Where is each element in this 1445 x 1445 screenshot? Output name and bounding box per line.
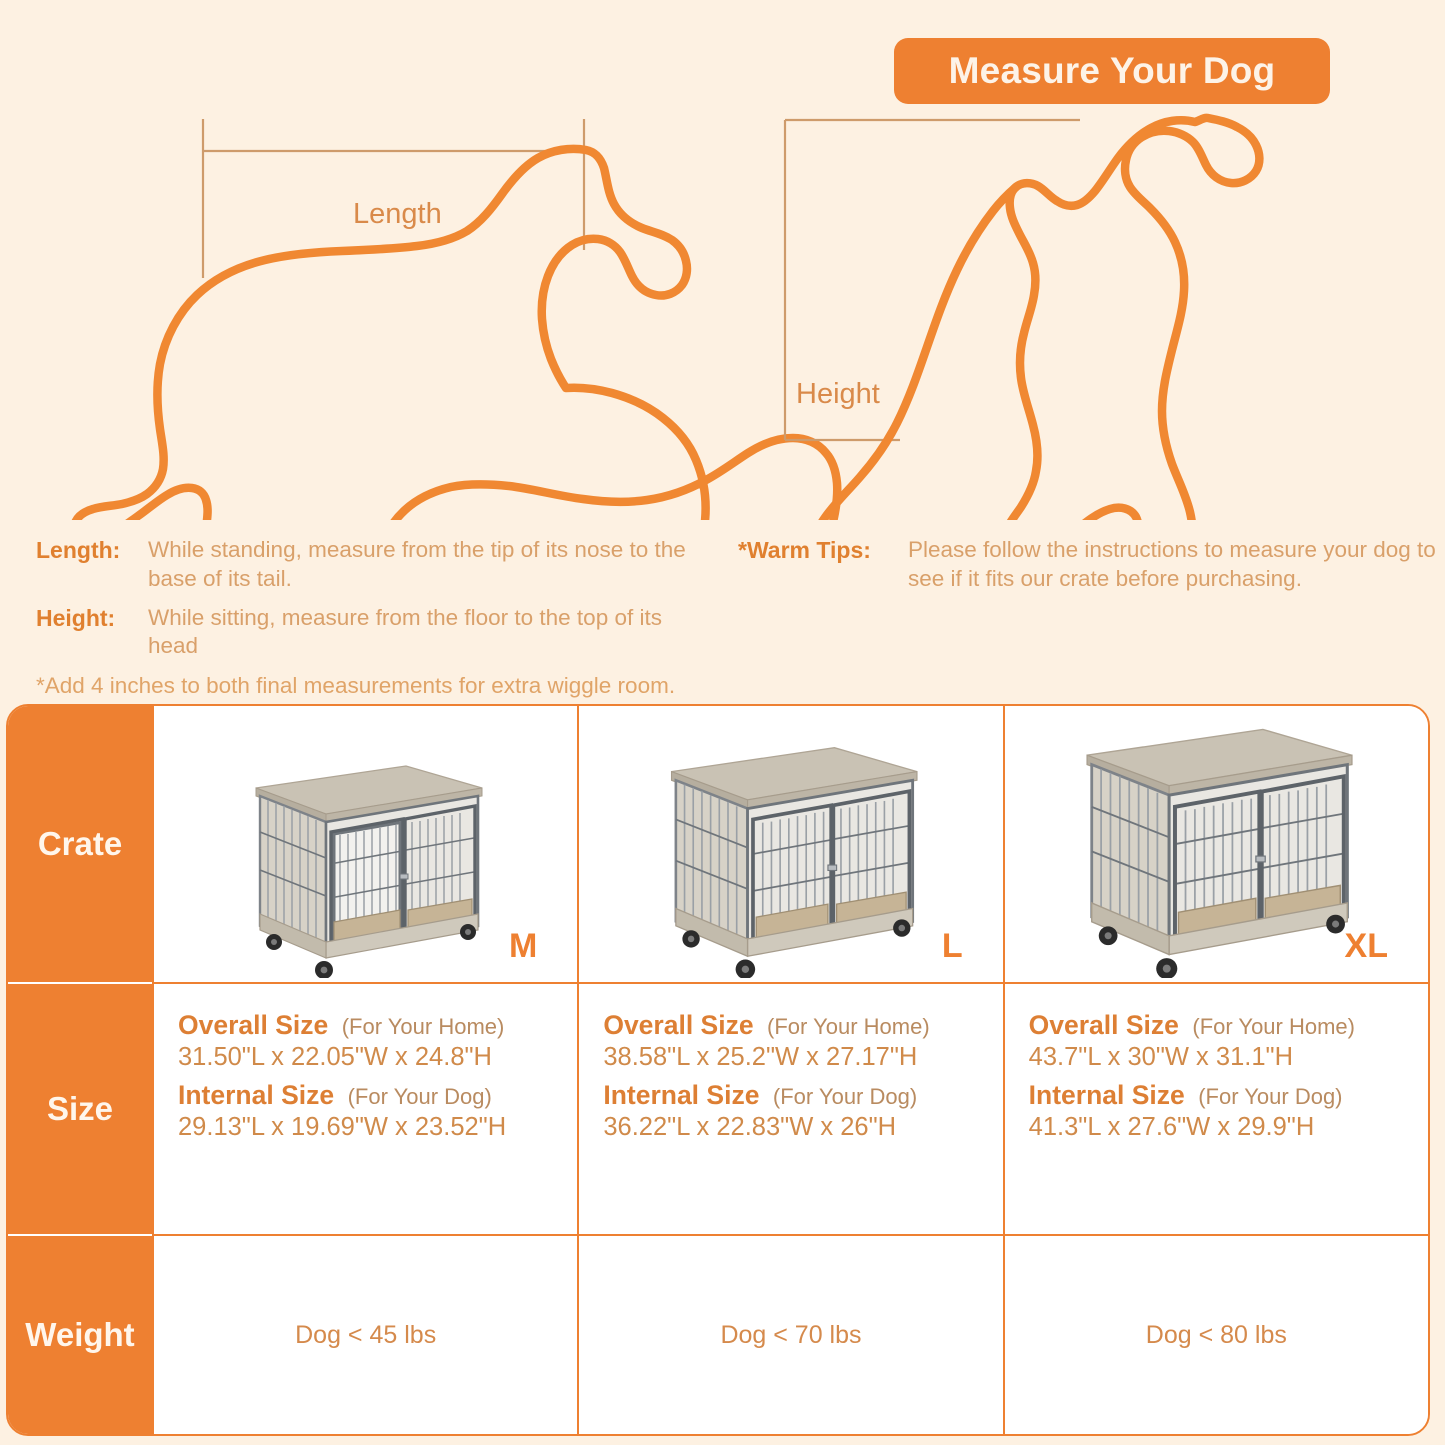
overall-size-line-xl: Overall Size (For Your Home)	[1029, 1010, 1428, 1041]
diagram-svg	[0, 90, 1445, 520]
size-cell-l: Overall Size (For Your Home) 38.58"L x 2…	[577, 984, 1002, 1236]
table-row-crate: Crate	[8, 706, 1428, 984]
overall-size-title: Overall Size	[603, 1010, 753, 1040]
height-instruction-term: Height:	[36, 604, 148, 662]
dog-crate-furniture-icon	[1046, 706, 1386, 978]
size-tag-l: L	[942, 927, 963, 966]
warm-tips-text: Please follow the instructions to measur…	[908, 536, 1438, 594]
height-dimension-label: Height	[796, 378, 880, 411]
crate-spec-table: Crate	[6, 704, 1430, 1436]
internal-size-line-l: Internal Size (For Your Dog)	[603, 1080, 1002, 1111]
badge-label: Measure Your Dog	[949, 50, 1276, 92]
crate-cell-m: M	[152, 706, 577, 984]
crate-cell-xl: XL	[1003, 706, 1428, 984]
overall-size-subtitle: (For Your Home)	[1192, 1014, 1355, 1039]
length-instruction-text: While standing, measure from the tip of …	[148, 536, 716, 594]
dog-measurement-diagrams: Length Height	[0, 90, 1445, 520]
internal-size-line-xl: Internal Size (For Your Dog)	[1029, 1080, 1428, 1111]
overall-size-value-m: 31.50"L x 22.05"W x 24.8"H	[178, 1043, 577, 1072]
internal-size-subtitle: (For Your Dog)	[773, 1084, 917, 1109]
weight-cell-l: Dog < 70 lbs	[577, 1236, 1002, 1434]
internal-size-subtitle: (For Your Dog)	[348, 1084, 492, 1109]
overall-size-subtitle: (For Your Home)	[342, 1014, 505, 1039]
weight-value-xl: Dog < 80 lbs	[1146, 1321, 1287, 1350]
size-cell-xl: Overall Size (For Your Home) 43.7"L x 30…	[1003, 984, 1428, 1236]
length-dimension-label: Length	[353, 198, 442, 231]
internal-size-value-l: 36.22"L x 22.83"W x 26"H	[603, 1113, 1002, 1142]
internal-size-value-xl: 41.3"L x 27.6"W x 29.9"H	[1029, 1113, 1428, 1142]
internal-size-title: Internal Size	[178, 1080, 334, 1110]
sitting-dog-outline-icon	[811, 118, 1260, 520]
overall-size-title: Overall Size	[178, 1010, 328, 1040]
internal-size-subtitle: (For Your Dog)	[1198, 1084, 1342, 1109]
length-instruction-term: Length:	[36, 536, 148, 594]
dog-crate-furniture-icon	[230, 746, 502, 978]
overall-size-line-l: Overall Size (For Your Home)	[603, 1010, 1002, 1041]
overall-size-line-m: Overall Size (For Your Home)	[178, 1010, 577, 1041]
size-cell-m: Overall Size (For Your Home) 31.50"L x 2…	[152, 984, 577, 1236]
length-instruction-row: Length: While standing, measure from the…	[36, 536, 716, 594]
table-row-weight: Weight Dog < 45 lbs Dog < 70 lbs Dog < 8…	[8, 1236, 1428, 1434]
row-header-crate-label: Crate	[38, 825, 122, 863]
measurement-instructions: Length: While standing, measure from the…	[36, 536, 716, 699]
internal-size-title: Internal Size	[603, 1080, 759, 1110]
weight-value-m: Dog < 45 lbs	[295, 1321, 436, 1350]
size-tag-xl: XL	[1345, 927, 1388, 966]
wiggle-room-note: *Add 4 inches to both final measurements…	[36, 673, 716, 699]
height-instruction-text: While sitting, measure from the floor to…	[148, 604, 716, 662]
row-header-weight: Weight	[8, 1236, 152, 1434]
standing-dog-outline-icon	[74, 149, 882, 520]
warm-tips-term: *Warm Tips:	[738, 536, 908, 594]
row-header-size: Size	[8, 984, 152, 1236]
row-header-size-label: Size	[47, 1090, 113, 1128]
table-row-size: Size Overall Size (For Your Home) 31.50"…	[8, 984, 1428, 1236]
weight-cell-m: Dog < 45 lbs	[152, 1236, 577, 1434]
warm-tips-row: *Warm Tips: Please follow the instructio…	[738, 536, 1438, 594]
crate-cell-l: L	[577, 706, 1002, 984]
weight-cell-xl: Dog < 80 lbs	[1003, 1236, 1428, 1434]
row-header-crate: Crate	[8, 706, 152, 984]
internal-size-line-m: Internal Size (For Your Dog)	[178, 1080, 577, 1111]
size-tag-m: M	[509, 927, 537, 966]
row-header-weight-label: Weight	[25, 1316, 134, 1354]
internal-size-title: Internal Size	[1029, 1080, 1185, 1110]
overall-size-subtitle: (For Your Home)	[767, 1014, 930, 1039]
internal-size-value-m: 29.13"L x 19.69"W x 23.52"H	[178, 1113, 577, 1142]
overall-size-title: Overall Size	[1029, 1010, 1179, 1040]
height-instruction-row: Height: While sitting, measure from the …	[36, 604, 716, 662]
overall-size-value-xl: 43.7"L x 30"W x 31.1"H	[1029, 1043, 1428, 1072]
weight-value-l: Dog < 70 lbs	[720, 1321, 861, 1350]
overall-size-value-l: 38.58"L x 25.2"W x 27.17"H	[603, 1043, 1002, 1072]
warm-tips-block: *Warm Tips: Please follow the instructio…	[738, 536, 1438, 604]
dog-crate-furniture-icon	[638, 726, 944, 978]
